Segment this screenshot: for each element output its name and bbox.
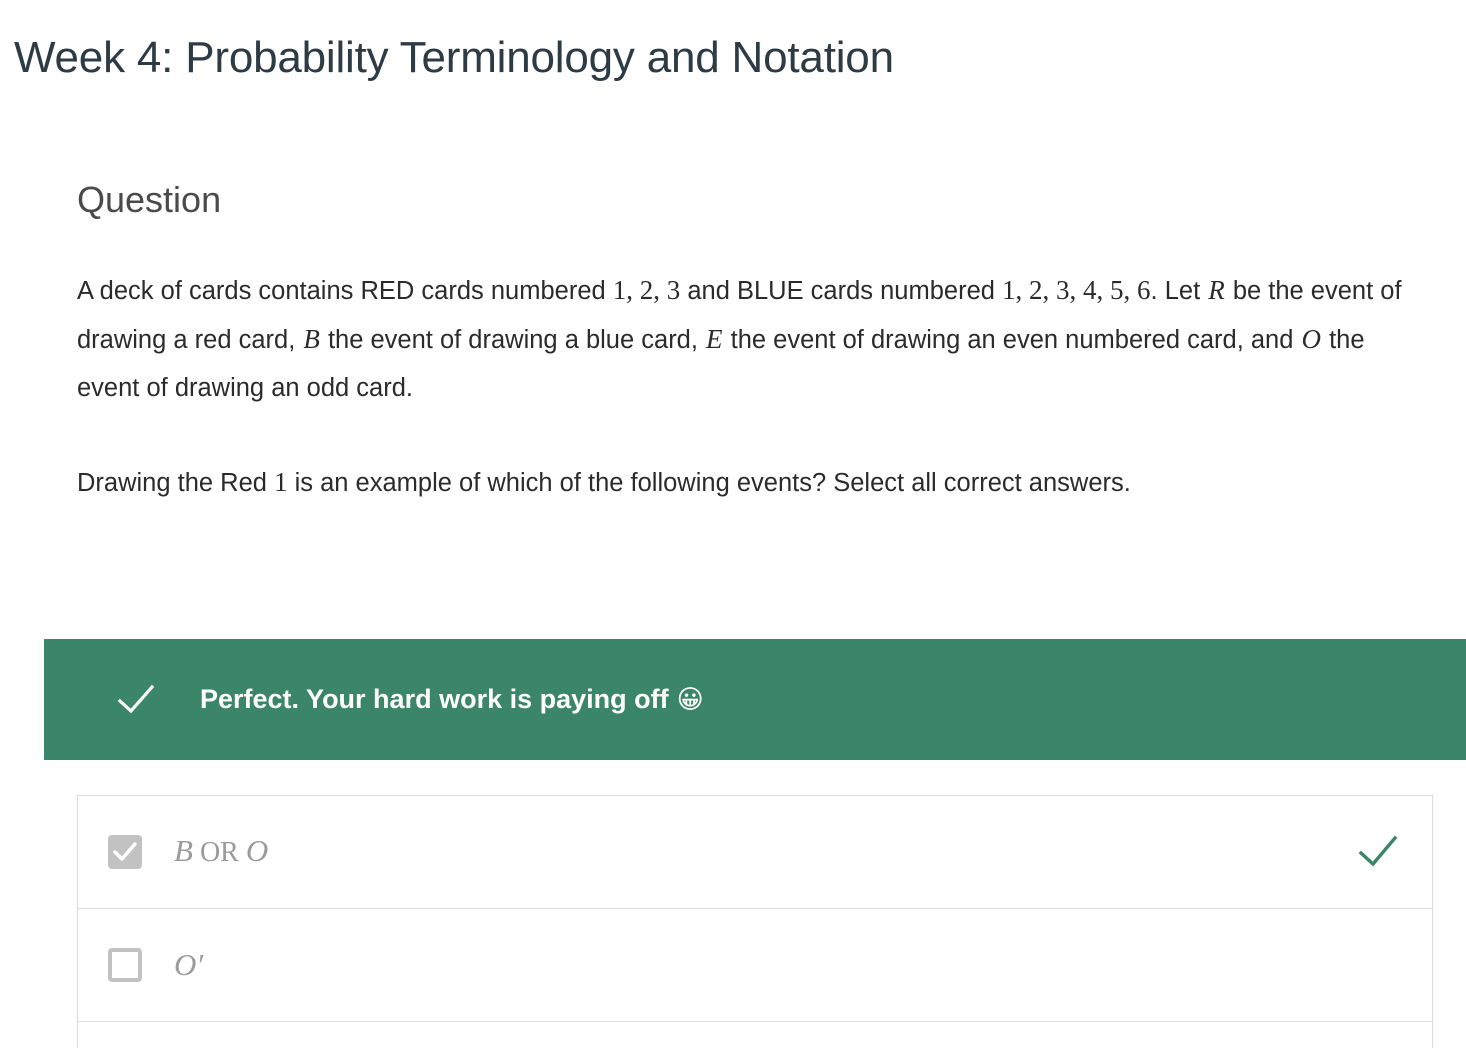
question-paragraph-2: Drawing the Red 1 is an example of which…	[77, 458, 1337, 507]
answer-option-label: O′	[174, 947, 203, 983]
math-variable-b: B	[302, 324, 321, 354]
question-paragraph-1: A deck of cards contains RED cards numbe…	[77, 266, 1417, 412]
math-operator-or: OR	[193, 837, 246, 868]
question-block: Question A deck of cards contains RED ca…	[77, 178, 1433, 507]
answer-option-row[interactable]: BORO	[78, 796, 1432, 909]
math-expression: 1, 2, 3, 4, 5, 6	[1002, 275, 1151, 305]
page-title: Week 4: Probability Terminology and Nota…	[14, 27, 894, 89]
feedback-message: Perfect. Your hard work is paying off😀	[200, 682, 704, 717]
question-text-segment: A deck of cards contains RED cards numbe…	[77, 277, 613, 305]
question-text-segment: Drawing the Red	[77, 469, 274, 497]
grinning-face-emoji: 😀	[677, 685, 704, 715]
answer-options-panel: BORO O′	[77, 795, 1433, 1048]
math-variable-o: O	[1301, 324, 1323, 354]
math-variable-o: O	[246, 833, 268, 868]
question-text-segment: the event of drawing a blue card,	[321, 326, 705, 354]
math-variable-o-prime: O′	[174, 947, 203, 982]
question-heading: Question	[77, 178, 1433, 222]
feedback-content: Perfect. Your hard work is paying off😀	[116, 680, 704, 720]
math-variable-b: B	[174, 833, 193, 868]
quiz-page: Week 4: Probability Terminology and Nota…	[0, 0, 1466, 1048]
question-text-segment: is an example of which of the following …	[288, 469, 1131, 497]
answer-option-row[interactable]: O′	[78, 909, 1432, 1022]
question-text-segment: and BLUE cards numbered	[680, 277, 1002, 305]
checkbox-checked-icon[interactable]	[108, 835, 142, 869]
math-variable-e: E	[705, 324, 724, 354]
question-text-segment: . Let	[1151, 277, 1208, 305]
feedback-banner: Perfect. Your hard work is paying off😀	[44, 639, 1466, 760]
answer-option-row[interactable]	[78, 1022, 1432, 1048]
math-expression: 1, 2, 3	[613, 275, 681, 305]
check-icon	[116, 680, 156, 720]
math-variable-r: R	[1207, 275, 1226, 305]
answer-option-label: BORO	[174, 833, 268, 871]
feedback-message-text: Perfect. Your hard work is paying off	[200, 684, 669, 714]
checkbox-unchecked-icon[interactable]	[108, 948, 142, 982]
math-expression: 1	[274, 467, 288, 497]
correct-answer-check-icon	[1356, 830, 1400, 874]
question-text-segment: the event of drawing an even numbered ca…	[724, 326, 1301, 354]
